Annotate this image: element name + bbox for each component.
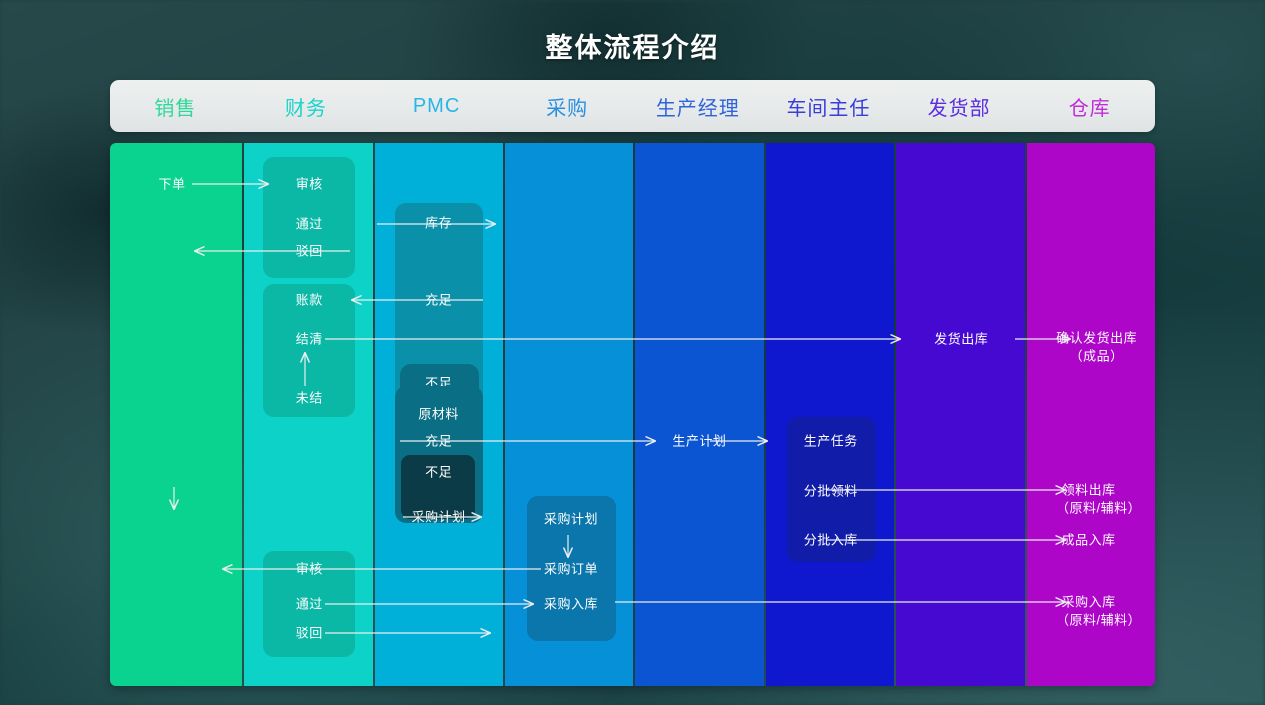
node-batch-pick[interactable]: 分批领料 bbox=[804, 482, 858, 499]
node-pmc-stock-enough[interactable]: 充足 bbox=[425, 291, 452, 308]
node-pmc-material-short[interactable]: 不足 bbox=[425, 463, 452, 480]
lane-purchasing: 采购计划 采购订单 采购入库 bbox=[505, 143, 633, 686]
node-production-plan[interactable]: 生产计划 bbox=[672, 432, 726, 449]
page-title: 整体流程介绍 bbox=[0, 26, 1265, 65]
node-finance-audit-pass[interactable]: 通过 bbox=[296, 215, 323, 232]
node-confirm-ship-line1[interactable]: 确认发货出库 bbox=[1056, 329, 1137, 346]
tab-production-manager[interactable]: 生产经理 bbox=[633, 92, 764, 121]
node-pmc-purchase-plan[interactable]: 采购计划 bbox=[412, 508, 466, 525]
node-finance-settled[interactable]: 结清 bbox=[296, 330, 323, 347]
node-purchase-in-line1[interactable]: 采购入库 bbox=[1062, 593, 1116, 610]
node-finance-audit2-pass[interactable]: 通过 bbox=[296, 595, 323, 612]
lane-pmc: 库存 充足 不足 原材料 充足 不足 采购计划 bbox=[375, 143, 503, 686]
tab-finance[interactable]: 财务 bbox=[241, 92, 372, 121]
node-buy-inbound[interactable]: 采购入库 bbox=[544, 595, 598, 612]
node-ship-out[interactable]: 发货出库 bbox=[934, 330, 988, 347]
node-finance-unsettled[interactable]: 未结 bbox=[296, 389, 323, 406]
node-pmc-stock[interactable]: 库存 bbox=[425, 214, 452, 231]
node-buy-plan[interactable]: 采购计划 bbox=[544, 510, 598, 527]
node-pick-out-line2: （原料/辅料） bbox=[1056, 499, 1141, 516]
swimlane-container: 下单 审核 通过 驳回 账款 结清 未结 审核 通过 驳回 库存 充足 不足 原… bbox=[110, 143, 1155, 686]
node-finance-payment[interactable]: 账款 bbox=[296, 291, 323, 308]
tab-warehouse[interactable]: 仓库 bbox=[1024, 92, 1155, 121]
node-finance-audit2[interactable]: 审核 bbox=[296, 560, 323, 577]
node-purchase-in-line2: （原料/辅料） bbox=[1056, 611, 1141, 628]
node-pmc-material-enough[interactable]: 充足 bbox=[425, 432, 452, 449]
node-sales-order[interactable]: 下单 bbox=[158, 175, 185, 192]
node-batch-inbound[interactable]: 分批入库 bbox=[804, 531, 858, 548]
node-finished-inbound[interactable]: 成品入库 bbox=[1062, 531, 1116, 548]
lane-finance: 审核 通过 驳回 账款 结清 未结 审核 通过 驳回 bbox=[244, 143, 372, 686]
node-production-task[interactable]: 生产任务 bbox=[804, 432, 858, 449]
tab-shipping-dept[interactable]: 发货部 bbox=[894, 92, 1025, 121]
node-pmc-material[interactable]: 原材料 bbox=[418, 405, 459, 422]
node-finance-audit2-reject[interactable]: 驳回 bbox=[296, 624, 323, 641]
role-tab-bar: 销售 财务 PMC 采购 生产经理 车间主任 发货部 仓库 bbox=[110, 80, 1155, 132]
lane-sales: 下单 bbox=[110, 143, 242, 686]
tab-sales[interactable]: 销售 bbox=[110, 92, 241, 121]
node-buy-order[interactable]: 采购订单 bbox=[544, 560, 598, 577]
tab-purchasing[interactable]: 采购 bbox=[502, 92, 633, 121]
lane-production-manager: 生产计划 bbox=[635, 143, 763, 686]
lane-workshop-director: 生产任务 分批领料 分批入库 bbox=[766, 143, 894, 686]
tab-workshop-director[interactable]: 车间主任 bbox=[763, 92, 894, 121]
node-finance-audit[interactable]: 审核 bbox=[296, 175, 323, 192]
lane-shipping-dept: 发货出库 bbox=[896, 143, 1024, 686]
lane-warehouse: 确认发货出库 （成品） 领料出库 （原料/辅料） 成品入库 采购入库 （原料/辅… bbox=[1027, 143, 1155, 686]
node-confirm-ship-line2: （成品） bbox=[1070, 347, 1124, 364]
tab-pmc[interactable]: PMC bbox=[371, 95, 502, 118]
node-pick-out-line1[interactable]: 领料出库 bbox=[1062, 481, 1116, 498]
node-finance-audit-reject[interactable]: 驳回 bbox=[296, 242, 323, 259]
